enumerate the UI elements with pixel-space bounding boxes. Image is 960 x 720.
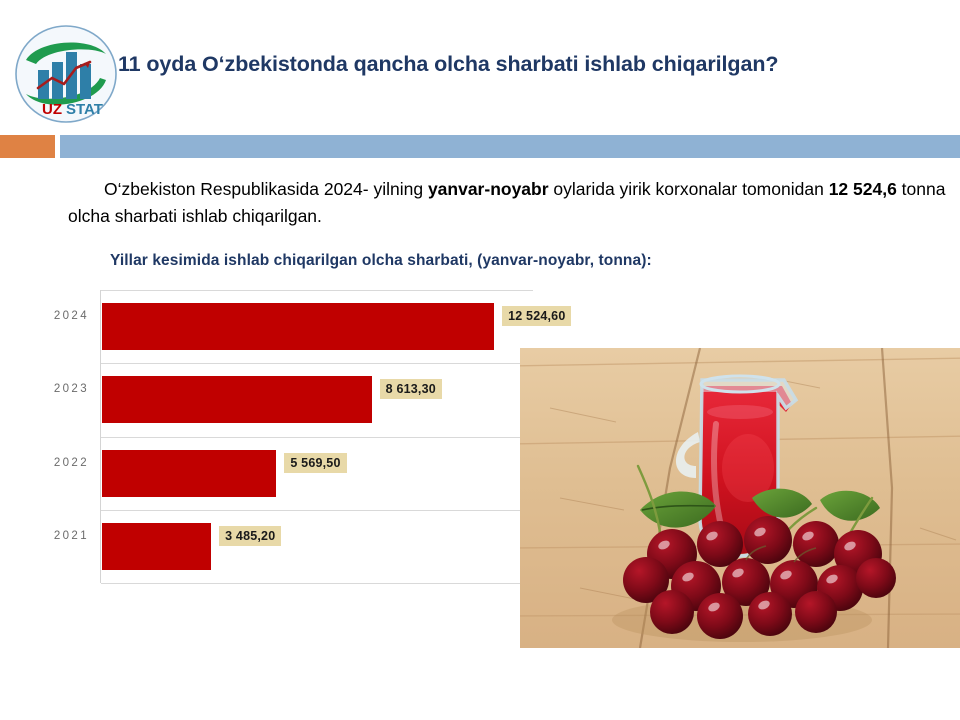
uzstat-logo-graphic: UZ STAT bbox=[14, 22, 118, 126]
chart-bar-row: 12 524,602024 bbox=[101, 290, 533, 363]
cherry-juice-photo bbox=[520, 348, 960, 648]
body-text-part1: O‘zbekiston Respublikasida 2024- yilning bbox=[104, 179, 428, 199]
chart-bar-row: 8 613,302023 bbox=[101, 363, 533, 436]
cherry-juice-illustration bbox=[520, 348, 960, 648]
chart-bar-value-label: 5 569,50 bbox=[284, 453, 346, 473]
body-paragraph: O‘zbekiston Respublikasida 2024- yilning… bbox=[68, 176, 948, 230]
chart-title: Yillar kesimida ishlab chiqarilgan olcha… bbox=[110, 252, 652, 270]
chart-bar-row: 5 569,502022 bbox=[101, 437, 533, 510]
chart-bar bbox=[102, 303, 494, 350]
chart-plot-area: 12 524,6020248 613,3020235 569,5020223 4… bbox=[100, 290, 532, 583]
page-title: 11 oyda O‘zbekistonda qancha olcha sharb… bbox=[118, 52, 958, 78]
uzstat-logo: UZ STAT bbox=[14, 22, 118, 126]
chart-bar-row: 3 485,202021 bbox=[101, 510, 533, 583]
logo-stat-text: STAT bbox=[66, 101, 103, 118]
chart-bar bbox=[102, 523, 211, 570]
accent-bar-orange bbox=[0, 135, 55, 158]
body-text-part2: oylarida yirik korxonalar tomonidan bbox=[549, 179, 829, 199]
logo-uz-text: UZ bbox=[42, 101, 62, 118]
body-text-bold-months: yanvar-noyabr bbox=[428, 179, 549, 199]
chart-category-label: 2023 bbox=[54, 383, 89, 395]
slide-header: UZ STAT 11 oyda O‘zbekistonda qancha olc… bbox=[0, 0, 960, 135]
chart-bar-value-label: 8 613,30 bbox=[380, 379, 442, 399]
chart-bar-value-label: 12 524,60 bbox=[502, 306, 571, 326]
accent-bar-blue bbox=[60, 135, 960, 158]
chart-bar-value-label: 3 485,20 bbox=[219, 526, 281, 546]
body-text-bold-volume: 12 524,6 bbox=[829, 179, 897, 199]
chart-bar bbox=[102, 450, 276, 497]
chart-gridline bbox=[101, 583, 533, 584]
chart-bar bbox=[102, 376, 372, 423]
chart-category-label: 2022 bbox=[54, 457, 89, 469]
chart-category-label: 2024 bbox=[54, 310, 89, 322]
bar-chart: 12 524,6020248 613,3020235 569,5020223 4… bbox=[42, 290, 532, 590]
chart-category-label: 2021 bbox=[54, 530, 89, 542]
